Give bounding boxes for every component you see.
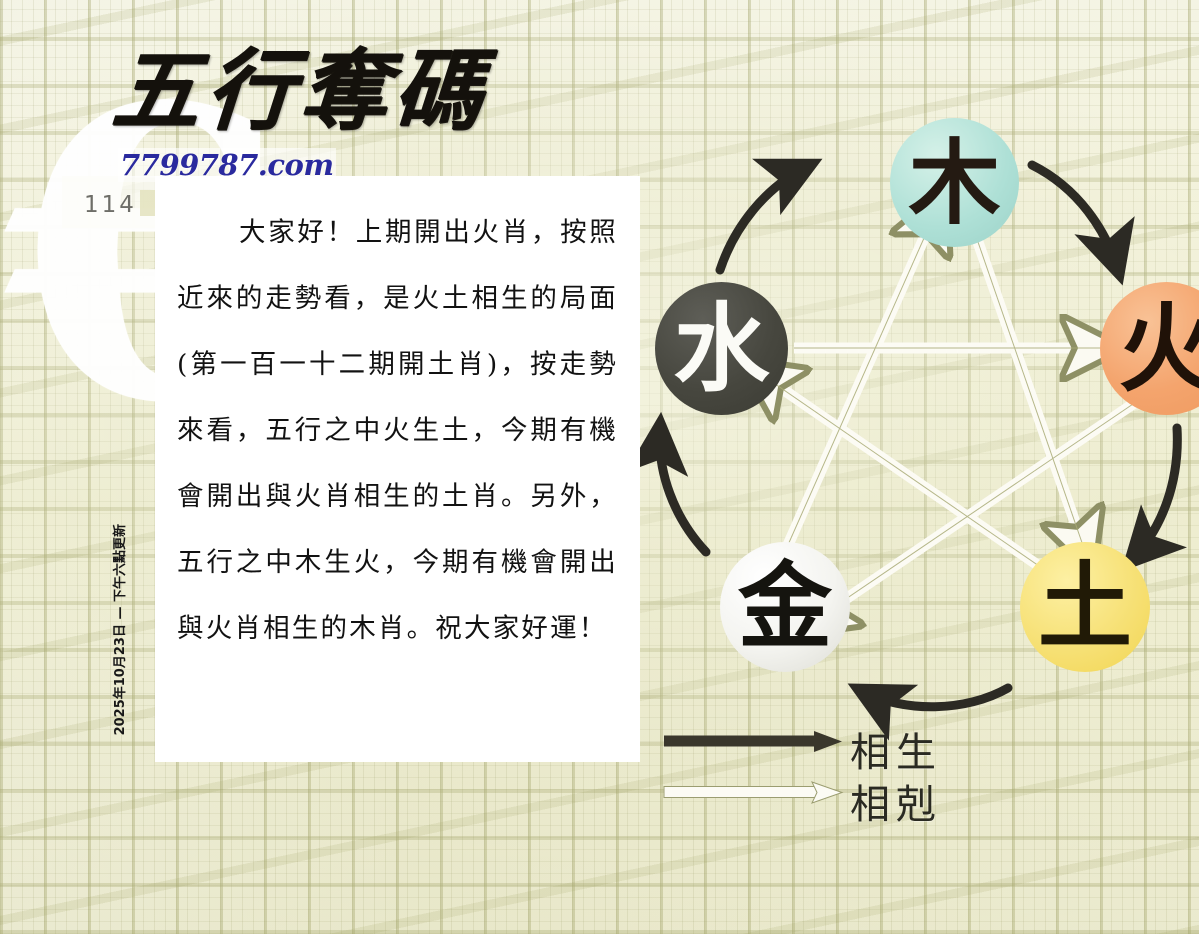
wuxing-node-fire-label: 火 xyxy=(1119,301,1199,397)
wuxing-node-water-label: 水 xyxy=(674,301,770,397)
wuxing-node-earth[interactable]: 土 xyxy=(1020,542,1150,672)
generating-arrow-water-to-wood xyxy=(720,166,808,270)
article-body: 大家好！上期開出火肖，按照近來的走勢看，是火土相生的局面(第一百一十二期開土肖)… xyxy=(155,176,640,662)
generating-arrow-wood-to-fire xyxy=(1032,165,1118,270)
page-title: 五行奪碼 xyxy=(109,46,491,134)
white-arrow-icon xyxy=(660,778,845,812)
legend-row-generating: 相生 xyxy=(660,726,990,778)
update-date-strip: 2025年10月23日 — 下午六點更新 xyxy=(108,524,134,752)
issue-number: 114 xyxy=(84,192,137,218)
page-root: € 五行奪碼 7799787.com 114 2025年10月23日 — 下午六… xyxy=(0,0,1199,934)
dark-arrow-icon xyxy=(660,726,845,760)
update-date-label: 2025年10月23日 — 下午六點更新 xyxy=(108,524,134,752)
wuxing-node-wood-label: 木 xyxy=(908,137,1000,229)
legend-label-generating: 相生 xyxy=(850,720,942,778)
generating-arrow-metal-to-water xyxy=(660,428,706,552)
legend-row-overcoming: 相剋 xyxy=(660,778,990,830)
wuxing-node-earth-label: 土 xyxy=(1038,560,1132,654)
wuxing-node-water[interactable]: 水 xyxy=(655,282,788,415)
wuxing-node-wood[interactable]: 木 xyxy=(890,118,1019,247)
legend-label-overcoming: 相剋 xyxy=(850,772,942,830)
article-card: 大家好！上期開出火肖，按照近來的走勢看，是火土相生的局面(第一百一十二期開土肖)… xyxy=(155,176,640,762)
generating-arrow-earth-to-metal xyxy=(862,688,1008,707)
wuxing-node-metal[interactable]: 金 xyxy=(720,542,850,672)
generating-arrow-fire-to-earth xyxy=(1132,428,1177,560)
wuxing-diagram: 木 火 土 金 水 xyxy=(640,90,1199,750)
diagram-legend: 相生 相剋 xyxy=(660,726,990,838)
wuxing-node-metal-label: 金 xyxy=(738,560,832,654)
